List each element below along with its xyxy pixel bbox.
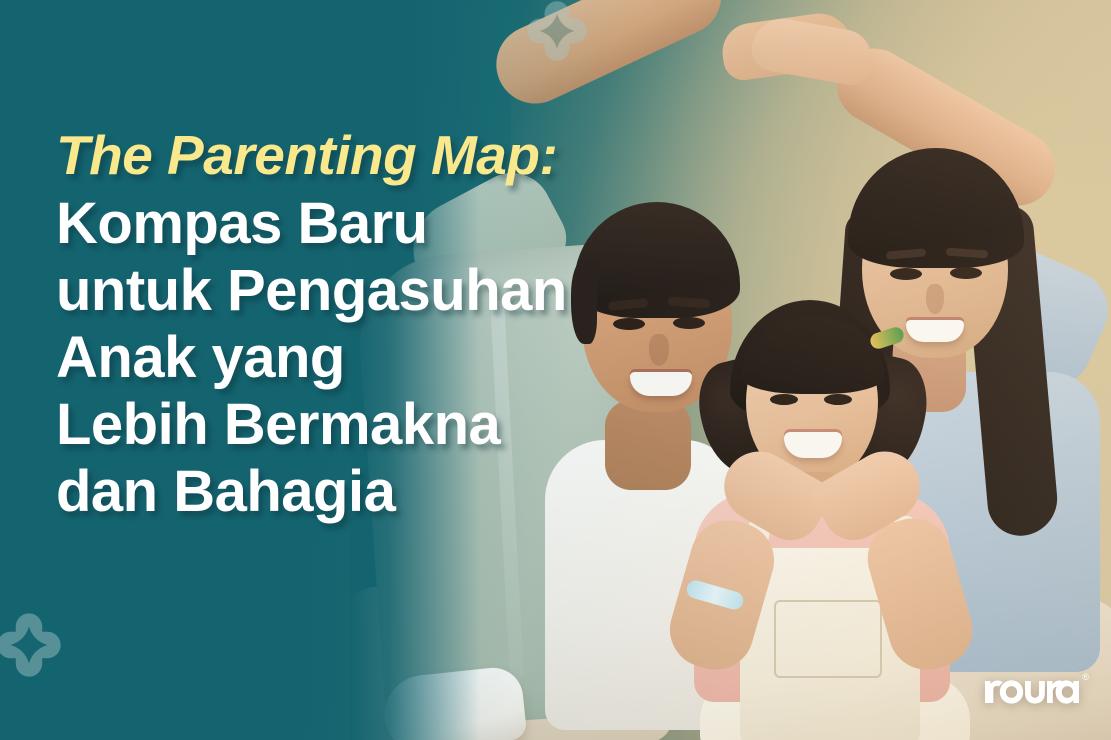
- child-smile: [784, 432, 842, 458]
- headline-line-5: dan Bahagia: [56, 463, 736, 521]
- headline-line-3: Anak yang: [56, 329, 736, 387]
- headline-accent-line: The Parenting Map:: [56, 128, 736, 183]
- headline-line-1: Kompas Baru: [56, 195, 736, 253]
- quatrefoil-icon: [526, 0, 588, 62]
- mother-smile: [906, 320, 964, 342]
- headline-line-4: Lebih Bermakna: [56, 396, 736, 454]
- headline-block: The Parenting Map: Kompas Baru untuk Pen…: [56, 128, 736, 530]
- poster-canvas: The Parenting Map: Kompas Baru untuk Pen…: [0, 0, 1111, 740]
- child-eye-left: [770, 394, 798, 405]
- noura-logo: ®: [984, 670, 1089, 704]
- trademark-symbol: ®: [1082, 673, 1089, 682]
- mother-eye-left: [890, 268, 922, 280]
- quatrefoil-icon: [0, 612, 62, 678]
- headline-line-2: untuk Pengasuhan: [56, 262, 736, 320]
- father-raised-arm: [484, 0, 734, 116]
- noura-wordmark-icon: [984, 670, 1080, 704]
- mother-eye-right: [950, 267, 982, 279]
- mother-nose: [926, 284, 944, 314]
- child-eye-right: [824, 394, 852, 405]
- child-overall-pocket: [774, 600, 882, 678]
